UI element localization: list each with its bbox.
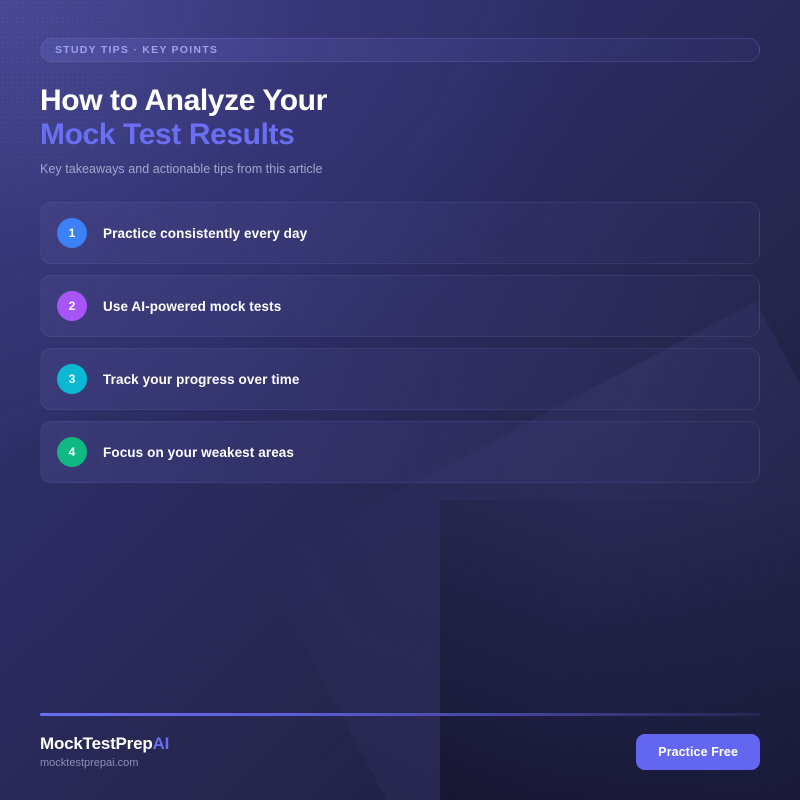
brand-name-main: MockTestPrep [40, 734, 153, 753]
key-point-label: Practice consistently every day [103, 226, 307, 241]
headline-line-primary: How to Analyze Your [40, 84, 760, 118]
key-points-list: 1Practice consistently every day2Use AI-… [40, 202, 760, 483]
key-point-number-badge: 4 [57, 437, 87, 467]
headline-line-accent: Mock Test Results [40, 118, 760, 152]
category-badge-label: STUDY TIPS · KEY POINTS [55, 44, 218, 56]
brand-name-accent: AI [153, 734, 170, 753]
key-point-number-badge: 3 [57, 364, 87, 394]
poster-footer: MockTestPrepAI mocktestprepai.com Practi… [40, 713, 760, 770]
poster-canvas: STUDY TIPS · KEY POINTS How to Analyze Y… [0, 0, 800, 800]
brand-block: MockTestPrepAI mocktestprepai.com [40, 735, 169, 769]
key-point-card: 2Use AI-powered mock tests [40, 275, 760, 337]
footer-row: MockTestPrepAI mocktestprepai.com Practi… [40, 734, 760, 770]
key-point-label: Track your progress over time [103, 372, 299, 387]
key-point-card: 3Track your progress over time [40, 348, 760, 410]
key-point-number-badge: 2 [57, 291, 87, 321]
poster-content: STUDY TIPS · KEY POINTS How to Analyze Y… [0, 38, 800, 483]
headline-subtitle: Key takeaways and actionable tips from t… [40, 162, 760, 176]
practice-free-button[interactable]: Practice Free [636, 734, 760, 770]
key-point-number-badge: 1 [57, 218, 87, 248]
key-point-card: 4Focus on your weakest areas [40, 421, 760, 483]
key-point-card: 1Practice consistently every day [40, 202, 760, 264]
brand-url: mocktestprepai.com [40, 757, 169, 769]
headline-block: How to Analyze Your Mock Test Results Ke… [40, 84, 760, 176]
brand-name: MockTestPrepAI [40, 735, 169, 754]
category-badge: STUDY TIPS · KEY POINTS [40, 38, 760, 62]
footer-divider [40, 713, 760, 716]
key-point-label: Focus on your weakest areas [103, 445, 294, 460]
key-point-label: Use AI-powered mock tests [103, 299, 281, 314]
